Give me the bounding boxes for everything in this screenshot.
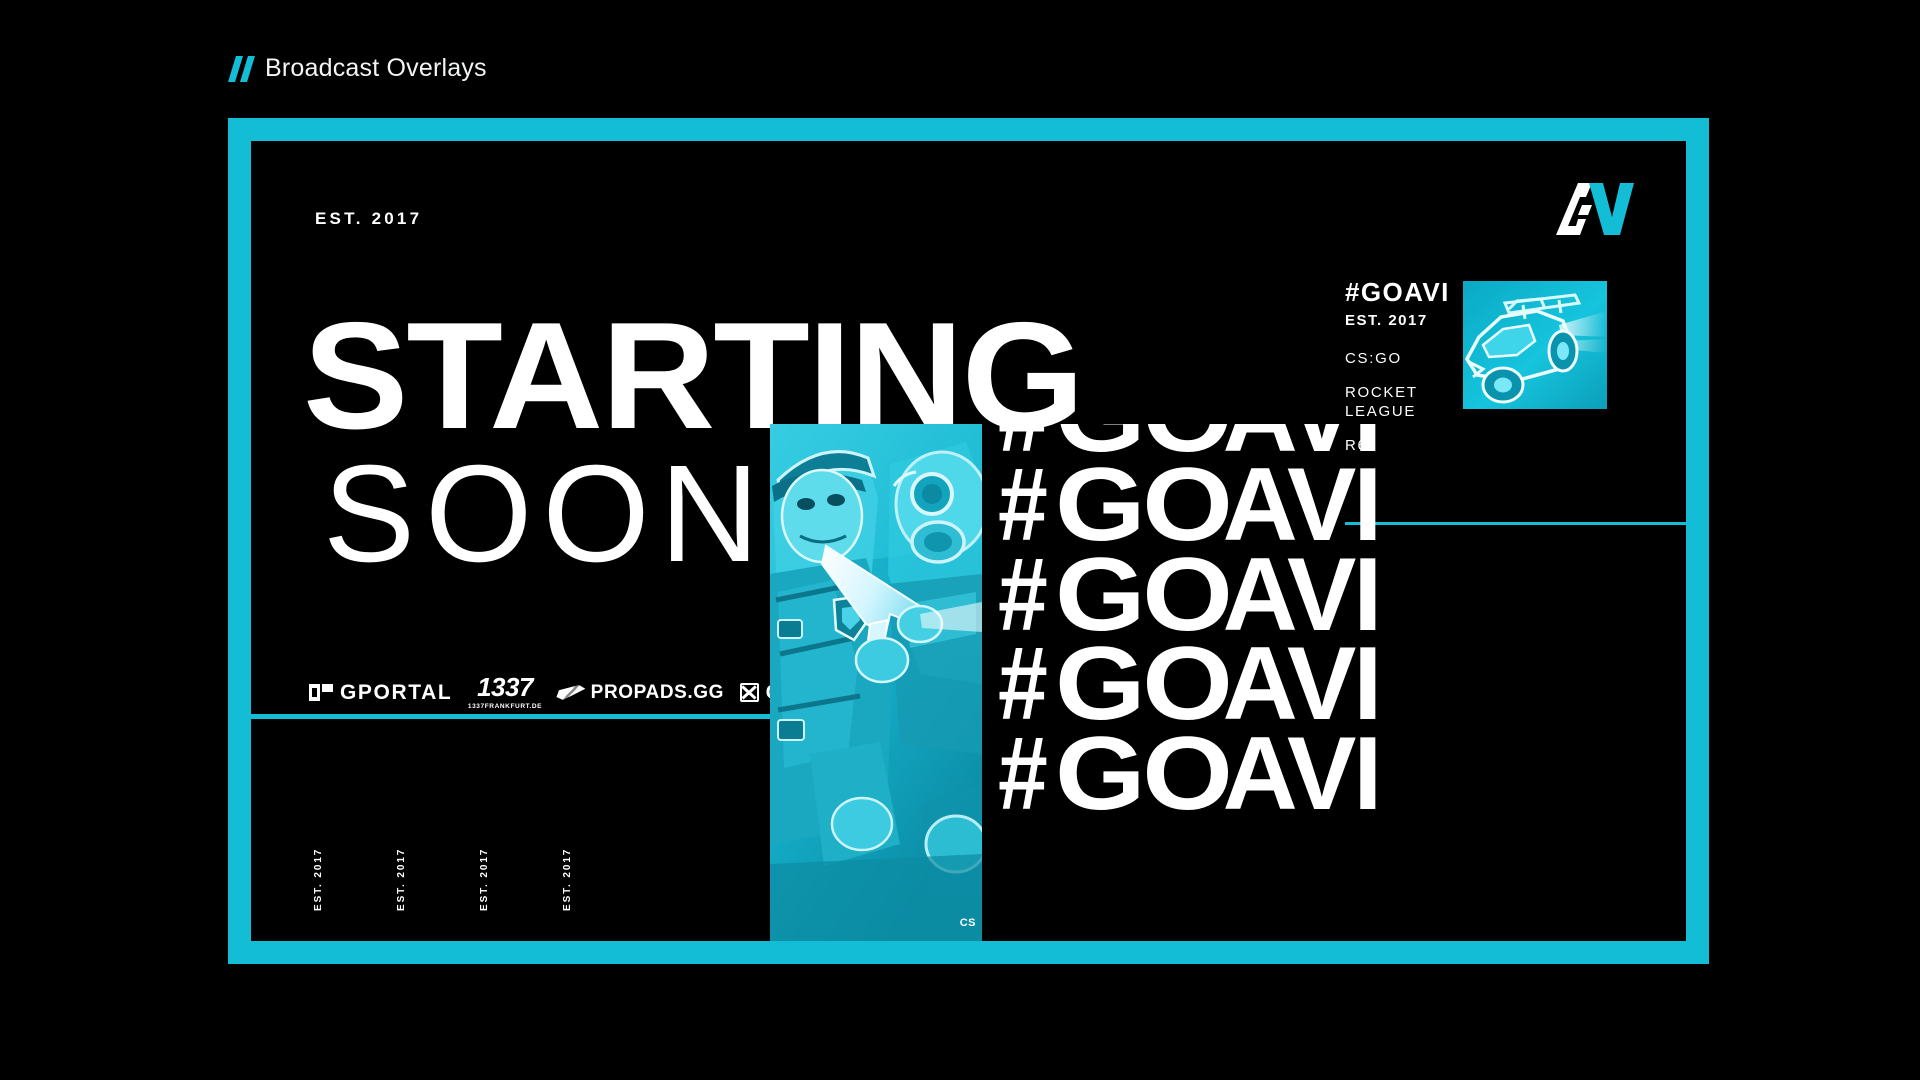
sponsor-sublabel: 1337FRANKFURT.DE: [468, 703, 542, 710]
sponsor-label: 1337: [477, 674, 533, 700]
cs-panel-tag: CS: [960, 917, 976, 929]
goavi-go: GO: [1055, 730, 1229, 819]
propads-mark-icon: [555, 685, 586, 700]
page-title: Broadcast Overlays: [265, 54, 487, 83]
info-hashtag: #GOAVI: [1345, 279, 1469, 305]
gportal-mark-icon: [309, 684, 333, 701]
vertical-est-label: EST. 2017: [313, 801, 324, 911]
broadcast-overlay-frame: EST. 2017 STARTING SOON GPORTAL: [228, 118, 1709, 964]
info-game-item: CS:GO: [1345, 350, 1469, 368]
sponsor-gportal: GPORTAL: [309, 682, 452, 703]
csgo-character-panel: CS: [770, 424, 982, 941]
av-logo: [1556, 181, 1634, 237]
oose-mark-icon: [740, 683, 759, 702]
rocket-league-thumbnail: [1463, 281, 1607, 409]
goavi-stack: # GO AVI # GO AVI # GO AVI # GO AVI: [998, 424, 1686, 819]
goavi-hash: #: [998, 730, 1045, 819]
headline-line-starting: STARTING: [303, 313, 1343, 441]
sponsor-label: PROPADS.GG: [591, 683, 724, 702]
sponsor-propads: PROPADS.GG: [558, 683, 724, 702]
goavi-avi: AVI: [1223, 730, 1380, 819]
info-game-item: ROCKET LEAGUE: [1345, 384, 1469, 421]
overlay-canvas: EST. 2017 STARTING SOON GPORTAL: [251, 141, 1686, 941]
vertical-est-label: EST. 2017: [562, 801, 573, 911]
vertical-est-labels: EST. 2017 EST. 2017 EST. 2017 EST. 2017: [313, 801, 573, 911]
goavi-row: # GO AVI: [998, 730, 1686, 819]
double-slash-icon: [232, 56, 251, 82]
est-badge-top: EST. 2017: [315, 209, 422, 229]
vertical-est-label: EST. 2017: [479, 801, 490, 911]
goavi-repeat-block: # GO AVI # GO AVI # GO AVI # GO AVI: [998, 424, 1686, 941]
sponsor-1337: 1337 1337FRANKFURT.DE: [468, 674, 542, 710]
sponsor-label: GPORTAL: [340, 682, 452, 703]
page-header: Broadcast Overlays: [232, 54, 487, 83]
vertical-est-label: EST. 2017: [396, 801, 407, 911]
info-established: EST. 2017: [1345, 313, 1469, 328]
